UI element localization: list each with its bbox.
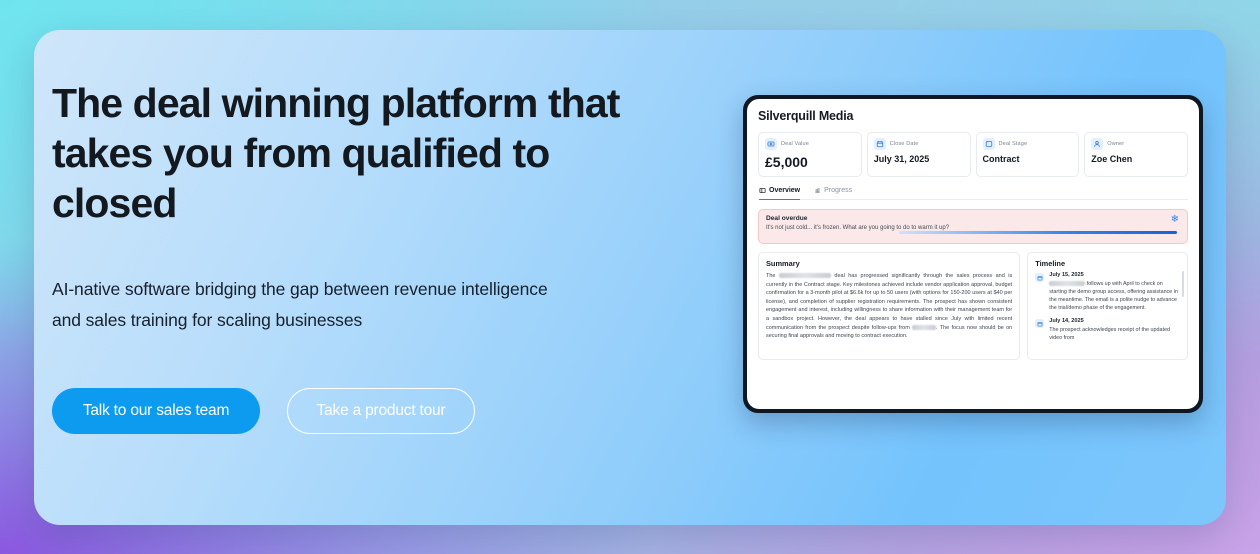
timeline-date: July 14, 2025 xyxy=(1049,318,1180,324)
snowflake-icon: ❄ xyxy=(1171,215,1179,225)
summary-panel: Summary The deal has progressed signific… xyxy=(758,252,1020,360)
hero-card: The deal winning platform that takes you… xyxy=(34,30,1226,525)
page-title: The deal winning platform that takes you… xyxy=(52,78,652,228)
app-screen: Silverquill Media Deal Value £5,000 xyxy=(747,99,1199,409)
tile-deal-value[interactable]: Deal Value £5,000 xyxy=(758,132,862,177)
app-tabs: Overview Progress xyxy=(758,187,1188,200)
calendar-icon xyxy=(1035,273,1044,282)
tile-owner[interactable]: Owner Zoe Chen xyxy=(1084,132,1188,177)
cta-button-row: Talk to our sales team Take a product to… xyxy=(52,388,712,434)
list-item[interactable]: July 14, 2025 The prospect acknowledges … xyxy=(1035,318,1180,342)
tile-value: July 31, 2025 xyxy=(874,154,964,164)
product-tour-button[interactable]: Take a product tour xyxy=(287,388,475,434)
summary-text: The deal has progressed significantly th… xyxy=(766,272,1012,341)
detail-panels: Summary The deal has progressed signific… xyxy=(758,252,1188,360)
redacted-person-name xyxy=(1049,281,1085,286)
list-item[interactable]: July 15, 2025 follows up with April to c… xyxy=(1035,272,1180,312)
chart-icon xyxy=(814,187,821,194)
timeline-date: July 15, 2025 xyxy=(1049,272,1180,278)
summary-title: Summary xyxy=(766,259,1012,268)
tab-progress[interactable]: Progress xyxy=(814,187,852,200)
timeline-panel: Timeline July 15, 2025 follows up with A… xyxy=(1027,252,1188,360)
warmth-progress-bar xyxy=(899,231,1177,235)
redacted-company-name xyxy=(779,273,831,278)
tile-value: £5,000 xyxy=(765,154,855,170)
alert-title: Deal overdue xyxy=(766,215,1180,222)
calendar-icon xyxy=(1035,319,1044,328)
deal-metric-tiles: Deal Value £5,000 Close Date July 31, 20… xyxy=(758,132,1188,177)
hero-subheadline: AI-native software bridging the gap betw… xyxy=(52,274,572,336)
tile-value: Zoe Chen xyxy=(1091,154,1181,164)
tag-icon xyxy=(983,138,995,150)
tile-label: Owner xyxy=(1107,141,1124,147)
hero-content: The deal winning platform that takes you… xyxy=(52,78,712,434)
summary-text-a: The xyxy=(766,273,779,279)
timeline-title: Timeline xyxy=(1035,259,1180,268)
deal-overdue-alert: Deal overdue It's not just cold... it's … xyxy=(758,209,1188,244)
talk-to-sales-button[interactable]: Talk to our sales team xyxy=(52,388,260,434)
tile-value: Contract xyxy=(983,154,1073,164)
tab-overview[interactable]: Overview xyxy=(759,187,800,200)
tile-label: Close Date xyxy=(890,141,919,147)
app-mockup-device: Silverquill Media Deal Value £5,000 xyxy=(743,95,1203,413)
tile-label: Deal Stage xyxy=(999,141,1028,147)
timeline-text: The prospect acknowledges receipt of the… xyxy=(1049,326,1180,342)
layout-icon xyxy=(759,187,766,194)
tile-label: Deal Value xyxy=(781,141,809,147)
calendar-icon xyxy=(874,138,886,150)
redacted-person-name xyxy=(912,325,936,330)
timeline-text: follows up with April to check on starti… xyxy=(1049,280,1180,312)
tile-deal-stage[interactable]: Deal Stage Contract xyxy=(976,132,1080,177)
user-icon xyxy=(1091,138,1103,150)
tile-close-date[interactable]: Close Date July 31, 2025 xyxy=(867,132,971,177)
tab-label: Overview xyxy=(769,187,800,194)
timeline-scrollbar[interactable] xyxy=(1182,271,1185,297)
tab-label: Progress xyxy=(824,187,852,194)
deal-name-title: Silverquill Media xyxy=(758,109,1188,123)
summary-text-b: deal has progressed significantly throug… xyxy=(766,273,1012,331)
money-icon xyxy=(765,138,777,150)
